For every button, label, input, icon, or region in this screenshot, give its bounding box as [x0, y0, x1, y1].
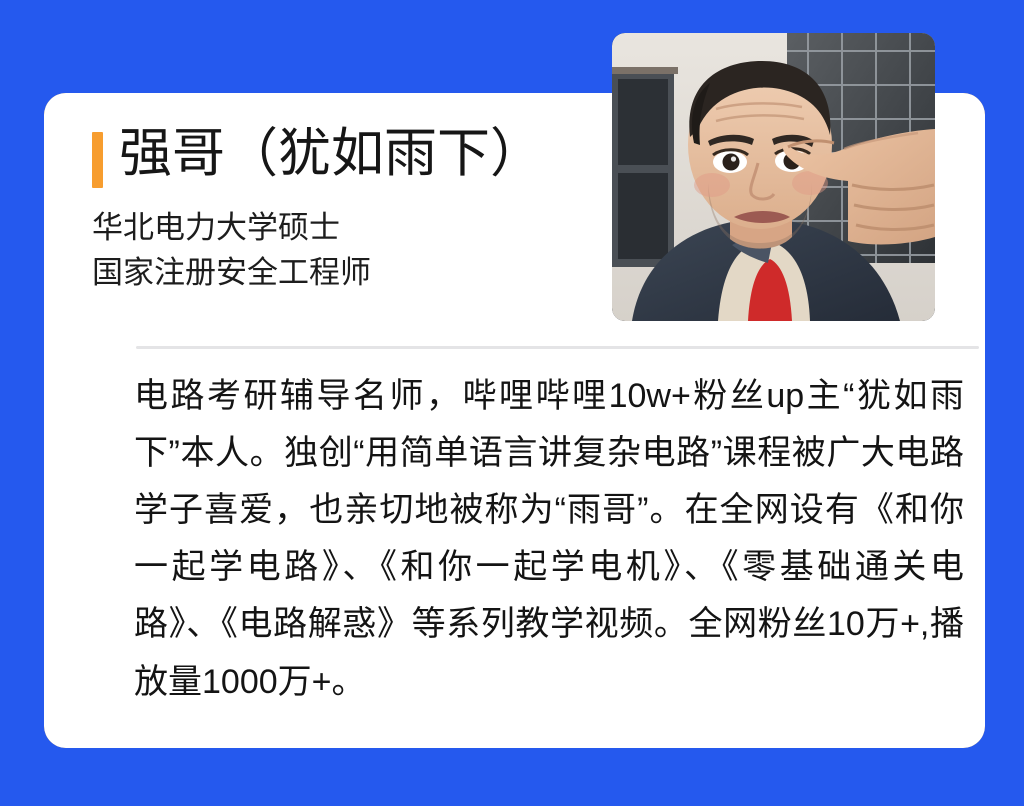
name-row: 强哥（犹如雨下） — [92, 123, 652, 188]
section-divider — [136, 346, 979, 349]
credential-list: 华北电力大学硕士 国家注册安全工程师 — [92, 206, 652, 296]
portrait-illustration — [612, 33, 935, 321]
instructor-portrait-photo — [612, 33, 935, 321]
poster-canvas: 强哥（犹如雨下） 华北电力大学硕士 国家注册安全工程师 电路考研辅导名师，哔哩哔… — [0, 0, 1024, 806]
credential-item: 国家注册安全工程师 — [92, 251, 652, 296]
credential-item: 华北电力大学硕士 — [92, 206, 652, 251]
accent-bar-icon — [92, 132, 103, 188]
profile-header: 强哥（犹如雨下） 华北电力大学硕士 国家注册安全工程师 — [92, 123, 652, 296]
biography-paragraph: 电路考研辅导名师，哔哩哔哩10w+粉丝up主“犹如雨下”本人。独创“用简单语言讲… — [134, 368, 964, 711]
page-title: 强哥（犹如雨下） — [119, 123, 543, 186]
